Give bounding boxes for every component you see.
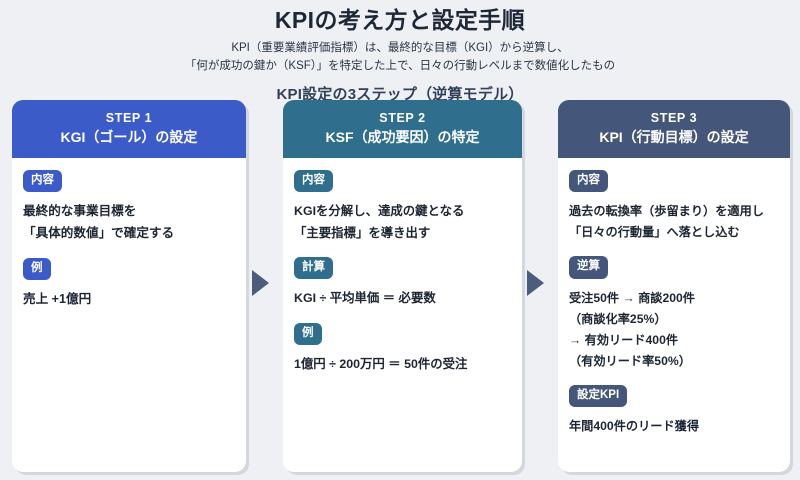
subtitle-line-2: 「何が成功の鍵か（KSF）」を特定した上で、日々の行動レベルまで数値化したもの	[0, 58, 800, 76]
text-line: 受注50件 → 商談200件	[569, 288, 779, 309]
badge-rei: 例	[23, 258, 51, 281]
step-card-3-body: 内容 過去の転換率（歩留まり）を適用し 「日々の行動量」へ落とし込む 逆算 受注…	[558, 158, 790, 472]
step-card-3-block-1-text: 過去の転換率（歩留まり）を適用し 「日々の行動量」へ落とし込む	[569, 201, 779, 243]
step-card-1-block-2-text: 売上 +1億円	[23, 289, 235, 311]
step-card-3-block-3-text: 年間400件のリード獲得	[569, 416, 779, 437]
step-card-3-number: STEP 3	[564, 110, 784, 127]
step-card-3: STEP 3 KPI（行動目標）の設定 内容 過去の転換率（歩留まり）を適用し …	[558, 100, 790, 472]
text-line: 年間400件のリード獲得	[569, 416, 779, 437]
step-card-2-block-1: 内容 KGIを分解し、達成の鍵となる 「主要指標」を導き出す	[294, 170, 511, 244]
step-card-3-block-3: 設定KPI 年間400件のリード獲得	[569, 385, 779, 437]
text-line: 売上 +1億円	[23, 289, 235, 311]
badge-naiyou: 内容	[294, 170, 333, 193]
badge-gyakusan: 逆算	[569, 256, 608, 279]
step-card-1-title: KGI（ゴール）の設定	[18, 128, 240, 147]
text-line: （商談化率25%）	[569, 309, 779, 330]
page-subtitle: KPI（重要業績評価指標）は、最終的な目標（KGI）から逆算し、 「何が成功の鍵…	[0, 40, 800, 76]
text-line: 過去の転換率（歩留まり）を適用し	[569, 201, 779, 222]
step-card-2-block-2: 計算 KGI ÷ 平均単価 ＝ 必要数	[294, 257, 511, 310]
arrow-right-icon-1	[252, 270, 269, 296]
text-line: 「具体的数値」で確定する	[23, 223, 235, 245]
step-card-2: STEP 2 KSF（成功要因）の特定 内容 KGIを分解し、達成の鍵となる 「…	[283, 100, 522, 472]
step-card-1-header: STEP 1 KGI（ゴール）の設定	[12, 100, 246, 158]
step-card-1-block-2: 例 売上 +1億円	[23, 258, 235, 311]
step-card-3-block-2: 逆算 受注50件 → 商談200件 （商談化率25%） → 有効リード400件 …	[569, 256, 779, 371]
step-card-1-block-1-text: 最終的な事業目標を 「具体的数値」で確定する	[23, 201, 235, 244]
step-card-1-block-1: 内容 最終的な事業目標を 「具体的数値」で確定する	[23, 170, 235, 245]
step-card-1-body: 内容 最終的な事業目標を 「具体的数値」で確定する 例 売上 +1億円	[12, 158, 246, 472]
badge-naiyou: 内容	[569, 170, 608, 193]
step-card-2-block-3: 例 1億円 ÷ 200万円 ＝ 50件の受注	[294, 323, 511, 376]
text-line: 1億円 ÷ 200万円 ＝ 50件の受注	[294, 354, 511, 375]
steps-container: STEP 1 KGI（ゴール）の設定 内容 最終的な事業目標を 「具体的数値」で…	[0, 100, 800, 474]
step-card-1: STEP 1 KGI（ゴール）の設定 内容 最終的な事業目標を 「具体的数値」で…	[12, 100, 246, 472]
step-card-3-block-2-text: 受注50件 → 商談200件 （商談化率25%） → 有効リード400件 （有効…	[569, 288, 779, 372]
badge-settei-kpi: 設定KPI	[569, 385, 627, 408]
badge-rei: 例	[294, 323, 322, 346]
arrow-right-icon-2	[527, 270, 544, 296]
step-card-2-block-3-text: 1億円 ÷ 200万円 ＝ 50件の受注	[294, 354, 511, 375]
text-line: 「主要指標」を導き出す	[294, 223, 511, 244]
step-card-3-block-1: 内容 過去の転換率（歩留まり）を適用し 「日々の行動量」へ落とし込む	[569, 170, 779, 243]
text-line: KGIを分解し、達成の鍵となる	[294, 201, 511, 222]
text-line: KGI ÷ 平均単価 ＝ 必要数	[294, 288, 511, 309]
step-card-2-block-1-text: KGIを分解し、達成の鍵となる 「主要指標」を導き出す	[294, 201, 511, 244]
step-card-2-block-2-text: KGI ÷ 平均単価 ＝ 必要数	[294, 288, 511, 309]
badge-naiyou: 内容	[23, 170, 62, 193]
text-line: 最終的な事業目標を	[23, 201, 235, 223]
page-title: KPIの考え方と設定手順	[0, 6, 800, 35]
text-line: （有効リード率50%）	[569, 351, 779, 372]
step-card-2-header: STEP 2 KSF（成功要因）の特定	[283, 100, 522, 158]
text-line: 「日々の行動量」へ落とし込む	[569, 222, 779, 243]
step-card-3-title: KPI（行動目標）の設定	[564, 128, 784, 147]
step-card-1-number: STEP 1	[18, 110, 240, 127]
step-card-3-header: STEP 3 KPI（行動目標）の設定	[558, 100, 790, 158]
subtitle-line-1: KPI（重要業績評価指標）は、最終的な目標（KGI）から逆算し、	[0, 40, 800, 58]
step-card-2-title: KSF（成功要因）の特定	[289, 128, 516, 147]
text-line: → 有効リード400件	[569, 330, 779, 351]
page-header: KPIの考え方と設定手順 KPI（重要業績評価指標）は、最終的な目標（KGI）か…	[0, 0, 800, 104]
badge-keisan: 計算	[294, 257, 333, 280]
step-card-2-body: 内容 KGIを分解し、達成の鍵となる 「主要指標」を導き出す 計算 KGI ÷ …	[283, 158, 522, 472]
step-card-2-number: STEP 2	[289, 110, 516, 127]
